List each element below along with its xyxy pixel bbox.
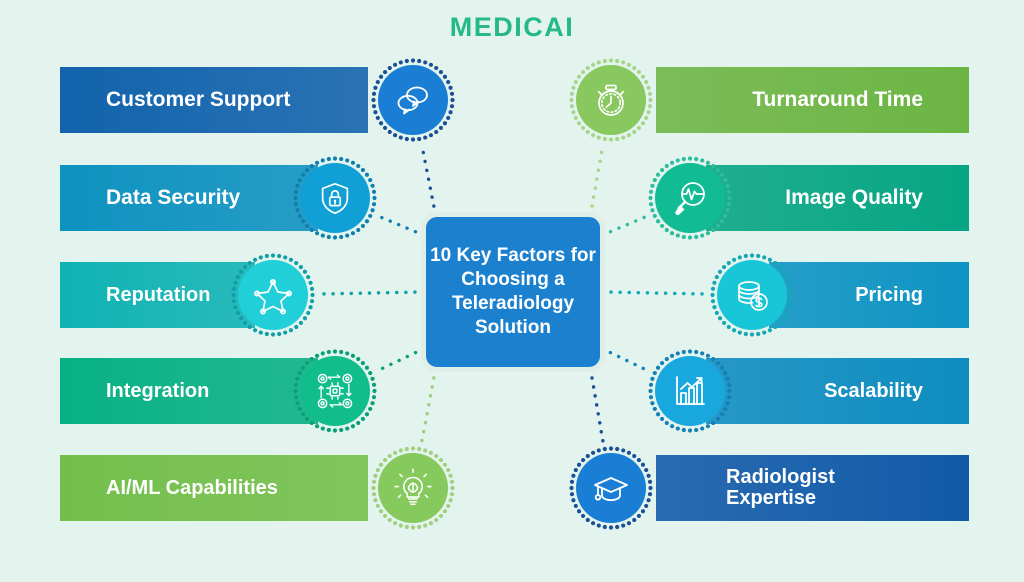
shield-lock-icon bbox=[300, 163, 370, 233]
stopwatch-icon bbox=[576, 65, 646, 135]
factor-bar-scalability: Scalability bbox=[706, 358, 969, 424]
factor-bar-label: Customer Support bbox=[106, 89, 290, 111]
shield-lock-icon-badge bbox=[292, 155, 378, 241]
graduation-cap-icon bbox=[576, 453, 646, 523]
factor-bar-data-security: Data Security bbox=[60, 165, 318, 231]
coins-dollar-icon-badge bbox=[709, 252, 795, 338]
bar-chart-icon bbox=[655, 356, 725, 426]
factor-bar-label: Integration bbox=[106, 381, 209, 402]
factor-bar-label: Image Quality bbox=[785, 187, 923, 209]
infographic-canvas: MEDICAI Customer SupportData SecurityRep… bbox=[0, 0, 1024, 582]
lightbulb-brain-icon bbox=[378, 453, 448, 523]
gears-network-icon-badge bbox=[292, 348, 378, 434]
factor-bar-radiologist-expertise: Radiologist Expertise bbox=[656, 455, 969, 521]
factor-bar-label: Turnaround Time bbox=[752, 89, 923, 111]
magnifier-pulse-icon bbox=[655, 163, 725, 233]
factor-bar-label: Pricing bbox=[855, 285, 923, 306]
gears-network-icon bbox=[300, 356, 370, 426]
speech-bubbles-icon bbox=[378, 65, 448, 135]
magnifier-pulse-icon-badge bbox=[647, 155, 733, 241]
stopwatch-icon-badge bbox=[568, 57, 654, 143]
speech-bubbles-icon-badge bbox=[370, 57, 456, 143]
star-icon-badge bbox=[230, 252, 316, 338]
coins-dollar-icon bbox=[717, 260, 787, 330]
center-title-line-1: 10 Key Factors bbox=[430, 245, 565, 266]
bar-chart-icon-badge bbox=[647, 348, 733, 434]
factor-bar-label: Data Security bbox=[106, 187, 240, 209]
factor-bar-label: Radiologist Expertise bbox=[726, 467, 923, 509]
factor-bar-reputation: Reputation bbox=[60, 262, 255, 328]
factor-bar-pricing: Pricing bbox=[769, 262, 969, 328]
factor-bar-image-quality: Image Quality bbox=[706, 165, 969, 231]
factor-bar-customer-support: Customer Support bbox=[60, 67, 368, 133]
factor-bar-label: Scalability bbox=[824, 381, 923, 402]
center-title-line-3: Teleradiology bbox=[452, 293, 574, 314]
graduation-cap-icon-badge bbox=[568, 445, 654, 531]
lightbulb-brain-icon-badge bbox=[370, 445, 456, 531]
factor-bar-ai-ml-capabilities: AI/ML Capabilities bbox=[60, 455, 368, 521]
factor-bar-label: Reputation bbox=[106, 285, 210, 306]
star-icon bbox=[238, 260, 308, 330]
center-title-line-4: Solution bbox=[475, 317, 551, 338]
factor-bar-integration: Integration bbox=[60, 358, 318, 424]
factor-bar-turnaround-time: Turnaround Time bbox=[656, 67, 969, 133]
factor-bar-label: AI/ML Capabilities bbox=[106, 478, 278, 499]
center-title-box: 10 Key Factors for Choosing a Teleradiol… bbox=[421, 212, 605, 372]
